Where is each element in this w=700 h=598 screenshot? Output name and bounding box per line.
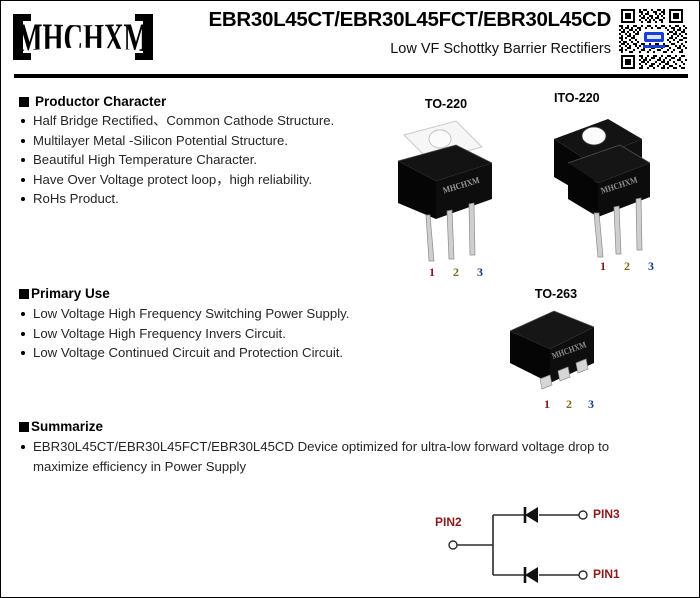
- list-item: Multilayer Metal -Silicon Potential Stru…: [19, 131, 399, 151]
- to-263-illustration: MHCHXM: [496, 301, 616, 401]
- title-block: EBR30L45CT/EBR30L45FCT/EBR30L45CD Low VF…: [161, 7, 617, 60]
- common-cathode-dual-diode-schematic: PIN2 PIN3 PIN1: [421, 493, 671, 593]
- list-item: Have Over Voltage protect loop，high reli…: [19, 170, 399, 190]
- package-label: TO-220: [386, 97, 506, 111]
- summarize-list: EBR30L45CT/EBR30L45FCT/EBR30L45CD Device…: [19, 437, 614, 476]
- section-heading-primary-use: Primary Use: [19, 286, 110, 301]
- section-title: Primary Use: [31, 286, 110, 301]
- package-figure-to-263: TO-263 MHCHXM 1 2 3: [496, 287, 616, 412]
- list-item: RoHs Product.: [19, 189, 399, 209]
- header-divider: [14, 74, 688, 78]
- list-item: Low Voltage Continued Circuit and Protec…: [19, 343, 419, 363]
- datasheet-page: MHCHXM EBR30L45CT/EBR30L45FCT/EBR30L45CD…: [0, 0, 700, 598]
- package-figure-ito-220: ITO-220 MHCHXM: [546, 91, 676, 274]
- page-header: MHCHXM EBR30L45CT/EBR30L45FCT/EBR30L45CD…: [1, 1, 700, 73]
- list-item: Low Voltage High Frequency Invers Circui…: [19, 324, 419, 344]
- terminal-label-pin1: PIN1: [593, 567, 620, 581]
- terminal-label-pin2: PIN2: [435, 515, 462, 529]
- section-heading-productor-character: Productor Character: [19, 94, 166, 109]
- section-title: Productor Character: [35, 94, 166, 109]
- page-title: EBR30L45CT/EBR30L45FCT/EBR30L45CD: [161, 7, 611, 33]
- package-label: TO-263: [496, 287, 616, 301]
- section-title: Summarize: [31, 419, 103, 434]
- square-bullet-icon: [19, 97, 29, 107]
- qr-code-icon: [617, 7, 691, 73]
- ito-220-illustration: MHCHXM: [546, 105, 676, 265]
- section-heading-summarize: Summarize: [19, 419, 103, 434]
- square-bullet-icon: [19, 422, 29, 432]
- terminal-label-pin3: PIN3: [593, 507, 620, 521]
- square-bullet-icon: [19, 289, 29, 299]
- page-subtitle: Low VF Schottky Barrier Rectifiers: [161, 38, 611, 60]
- package-figure-to-220: TO-220 MHCHXM: [386, 97, 506, 280]
- productor-character-list: Half Bridge Rectified、Common Cathode Str…: [19, 111, 399, 209]
- mhchxm-logo: MHCHXM: [13, 11, 153, 63]
- list-item: Beautiful High Temperature Character.: [19, 150, 399, 170]
- primary-use-list: Low Voltage High Frequency Switching Pow…: [19, 304, 419, 363]
- list-item: Half Bridge Rectified、Common Cathode Str…: [19, 111, 399, 131]
- list-item: EBR30L45CT/EBR30L45FCT/EBR30L45CD Device…: [19, 437, 614, 476]
- package-label: ITO-220: [554, 91, 676, 105]
- list-item: Low Voltage High Frequency Switching Pow…: [19, 304, 419, 324]
- to-220-illustration: MHCHXM: [386, 111, 506, 271]
